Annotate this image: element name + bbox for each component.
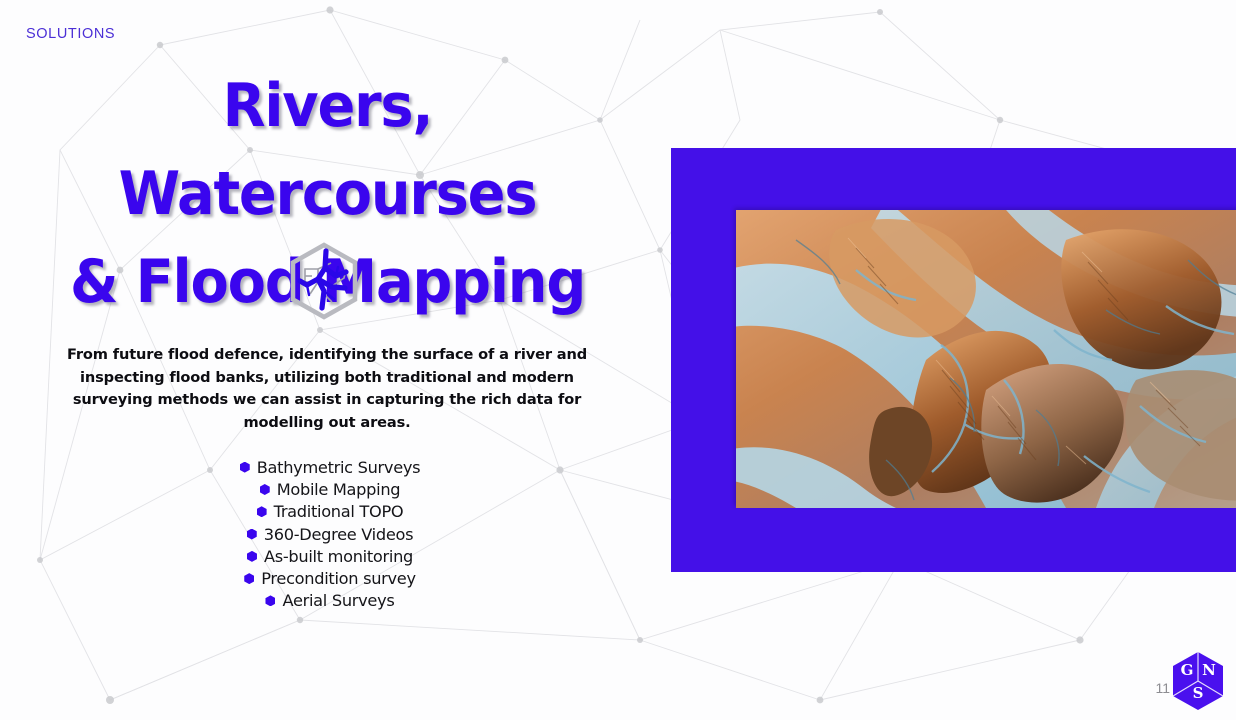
hex-bullet-icon	[247, 529, 257, 540]
list-item-label: Aerial Surveys	[282, 591, 394, 610]
gns-logo: G N S	[1170, 650, 1226, 712]
body-paragraph: From future flood defence, identifying t…	[62, 344, 592, 434]
feature-list: Bathymetric Surveys Mobile Mapping Tradi…	[0, 456, 660, 612]
list-item-label: Traditional TOPO	[274, 502, 404, 521]
list-item-label: Precondition survey	[261, 569, 416, 588]
eyebrow-label: SOLUTIONS	[26, 26, 115, 42]
logo-letter-g: G	[1181, 661, 1194, 679]
aerial-river-photo	[736, 210, 1236, 508]
list-item: As-built monitoring	[247, 545, 413, 567]
slide-canvas: SOLUTIONS Rivers, Watercourses & Flood M…	[0, 0, 1236, 720]
hex-bullet-icon	[260, 484, 270, 495]
hex-bullet-icon	[244, 573, 254, 584]
list-item: Precondition survey	[244, 567, 416, 589]
list-item-label: Bathymetric Surveys	[257, 458, 421, 477]
list-item: Aerial Surveys	[265, 590, 394, 612]
list-item: 360-Degree Videos	[247, 523, 414, 545]
list-item: Bathymetric Surveys	[240, 456, 421, 478]
hex-bullet-icon	[247, 551, 257, 562]
logo-letter-s: S	[1193, 684, 1204, 702]
list-item: Mobile Mapping	[260, 478, 401, 500]
hex-bullet-icon	[240, 462, 250, 473]
list-item-label: As-built monitoring	[264, 547, 413, 566]
list-item: Traditional TOPO	[257, 501, 404, 523]
title-line-1: Rivers, Watercourses	[23, 62, 632, 238]
hex-bullet-icon	[257, 506, 267, 517]
hex-bullet-icon	[265, 595, 275, 606]
river-network-hex-icon	[288, 242, 360, 320]
page-number: 11	[1155, 680, 1170, 696]
list-item-label: 360-Degree Videos	[264, 525, 414, 544]
logo-letter-n: N	[1202, 661, 1216, 679]
list-item-label: Mobile Mapping	[277, 480, 401, 499]
